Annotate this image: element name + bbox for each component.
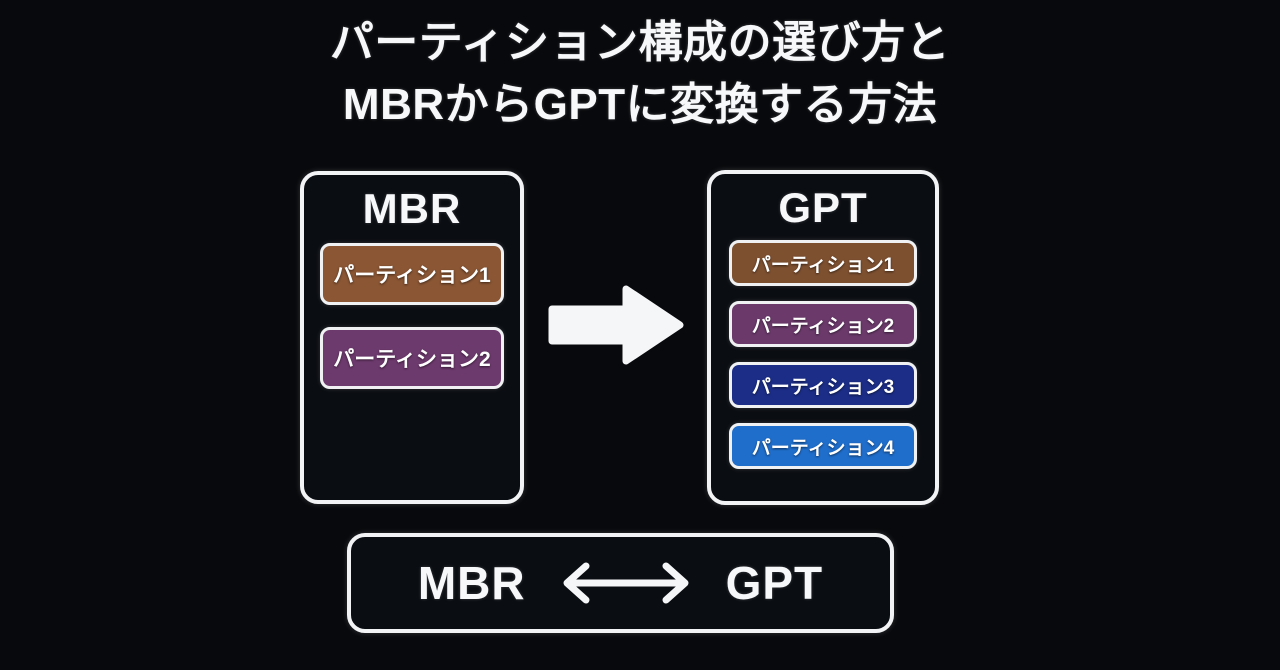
mbr-panel-heading: MBR bbox=[304, 187, 520, 231]
gpt-partition-label-4: パーティション4 bbox=[752, 433, 894, 460]
gpt-panel-heading: GPT bbox=[711, 186, 935, 230]
bidirectional-arrow-icon bbox=[556, 560, 696, 606]
gpt-panel: GPT パーティション1 パーティション2 パーティション3 パーティション4 bbox=[707, 170, 939, 505]
mbr-partition-chip-1: パーティション1 bbox=[320, 243, 504, 305]
mbr-panel: MBR パーティション1 パーティション2 bbox=[300, 171, 524, 504]
mbr-partition-label-1: パーティション1 bbox=[333, 259, 490, 289]
page-title: パーティション構成の選び方と MBRからGPTに変換する方法 bbox=[0, 12, 1280, 137]
gpt-partition-chip-2: パーティション2 bbox=[729, 301, 917, 347]
right-block-arrow-icon bbox=[548, 281, 684, 369]
page-title-line-1: パーティション構成の選び方と bbox=[0, 12, 1280, 74]
page-title-line-2: MBRからGPTに変換する方法 bbox=[0, 74, 1280, 136]
gpt-partition-label-2: パーティション2 bbox=[752, 311, 894, 338]
mbr-partition-chip-2: パーティション2 bbox=[320, 327, 504, 389]
gpt-partition-label-3: パーティション3 bbox=[752, 372, 894, 399]
gpt-partition-label-1: パーティション1 bbox=[752, 250, 894, 277]
footer-right-label: GPT bbox=[726, 560, 824, 606]
gpt-partition-chip-1: パーティション1 bbox=[729, 240, 917, 286]
footer-left-label: MBR bbox=[418, 560, 526, 606]
gpt-partition-chip-4: パーティション4 bbox=[729, 423, 917, 469]
mbr-partition-list: パーティション1 パーティション2 bbox=[304, 243, 520, 389]
mbr-partition-label-2: パーティション2 bbox=[333, 343, 490, 373]
gpt-partition-chip-3: パーティション3 bbox=[729, 362, 917, 408]
gpt-partition-list: パーティション1 パーティション2 パーティション3 パーティション4 bbox=[711, 240, 935, 469]
mbr-gpt-conversion-bar: MBR GPT bbox=[347, 533, 894, 633]
